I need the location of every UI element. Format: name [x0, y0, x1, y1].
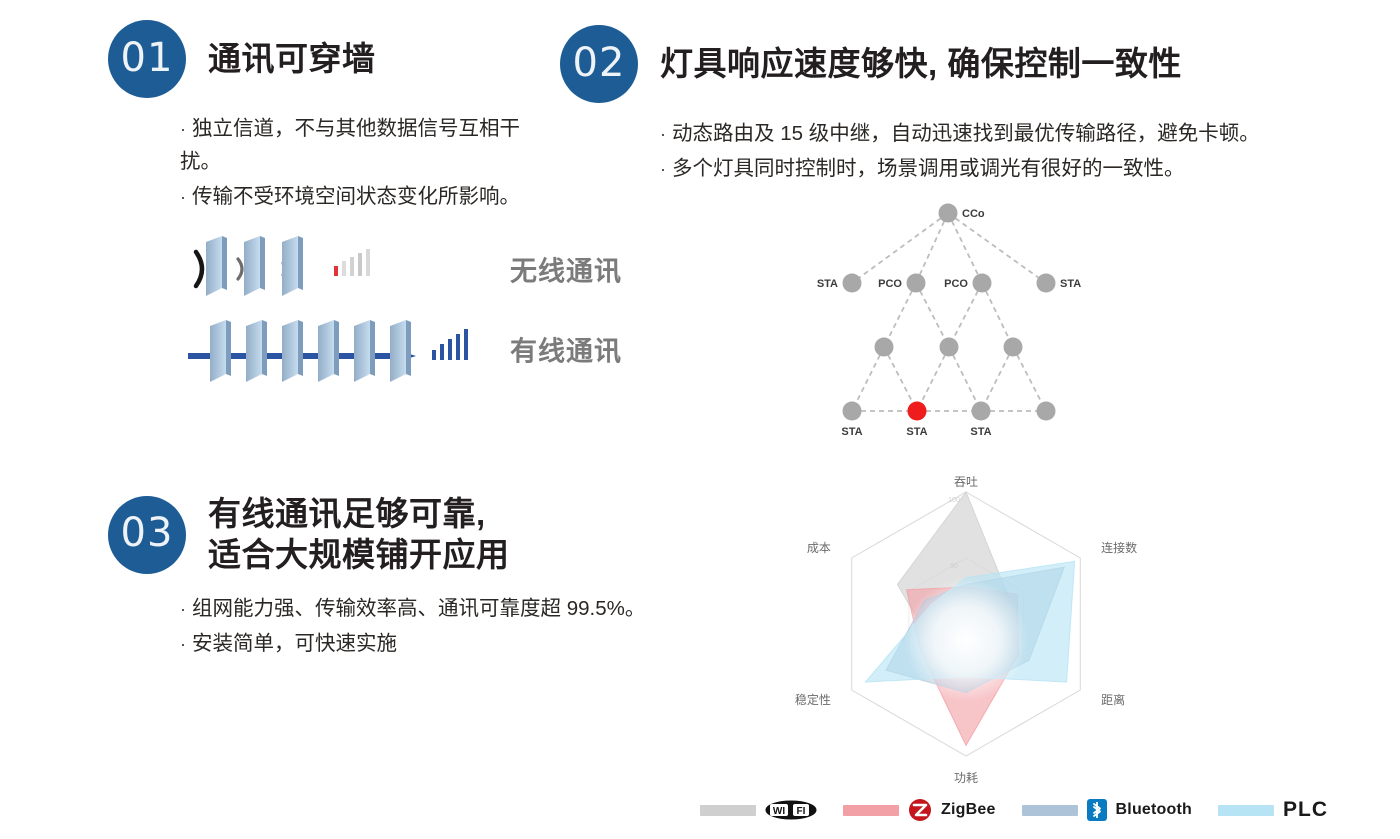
bullet-text: 传输不受环境空间状态变化所影响。	[192, 185, 520, 208]
list-item: ·独立信道，不与其他数据信号互相干扰。	[180, 112, 535, 178]
mesh-node-mid-1	[875, 338, 894, 357]
mesh-node-label: STA	[817, 278, 838, 290]
mesh-link	[884, 283, 916, 347]
bullet-text: 独立信道，不与其他数据信号互相干扰。	[180, 117, 520, 173]
mesh-node-pco-1	[907, 274, 926, 293]
mesh-network-diagram: CCoSTAPCOPCOSTASTASTASTA	[810, 195, 1320, 450]
zigbee-logo-icon	[908, 798, 932, 822]
mesh-node-label: STA	[1060, 278, 1081, 290]
section-01-header: 01 通讯可穿墙	[108, 20, 578, 98]
bullet-text: 安装简单，可快速实施	[192, 632, 397, 655]
radar-chart-legend: WI FI ZigBee Bluetooth PLC	[700, 798, 1328, 822]
radar-center-glow	[904, 578, 1028, 702]
wired-signal-walls-graphic	[186, 316, 516, 390]
legend-item-zigbee: ZigBee	[843, 798, 996, 822]
mesh-link	[917, 347, 949, 411]
section-03-number-badge: 03	[108, 496, 186, 574]
mesh-node-cco	[939, 204, 958, 223]
radar-axis-label: 连接数	[1101, 540, 1137, 555]
section-01-bullet-list: ·独立信道，不与其他数据信号互相干扰。 ·传输不受环境空间状态变化所影响。	[180, 112, 535, 214]
section-03-header: 03 有线通讯足够可靠, 适合大规模铺开应用	[108, 494, 788, 576]
mesh-link	[852, 213, 948, 283]
mesh-link	[981, 347, 1013, 411]
bullet-dot-icon: ·	[180, 187, 186, 207]
bullet-dot-icon: ·	[660, 159, 666, 179]
legend-swatch-wifi	[700, 805, 756, 816]
legend-label-bluetooth: Bluetooth	[1116, 801, 1192, 819]
list-item: ·动态路由及 15 级中继，自动迅速找到最优传输路径，避免卡顿。	[660, 117, 1300, 150]
mesh-node-bot-3	[972, 402, 991, 421]
section-01-title: 通讯可穿墙	[208, 39, 376, 80]
mesh-link	[982, 283, 1013, 347]
mesh-node-label: STA	[970, 426, 991, 438]
bullet-dot-icon: ·	[180, 634, 186, 654]
mesh-node-bot-2	[908, 402, 927, 421]
mesh-node-label: STA	[841, 426, 862, 438]
svg-text:FI: FI	[797, 806, 806, 817]
section-02-header: 02 灯具响应速度够快, 确保控制一致性	[560, 25, 1320, 103]
mesh-node-mid-3	[1004, 338, 1023, 357]
wireless-row: 无线通讯	[186, 236, 616, 302]
section-03-title: 有线通讯足够可靠, 适合大规模铺开应用	[208, 494, 510, 576]
wireless-signal-walls-graphic	[186, 236, 516, 302]
bullet-dot-icon: ·	[180, 119, 186, 139]
mesh-node-pco-2	[973, 274, 992, 293]
legend-item-plc: PLC	[1218, 798, 1328, 822]
mesh-node-label: CCo	[962, 208, 985, 220]
mesh-link	[916, 283, 949, 347]
feature-section-02: 02 灯具响应速度够快, 确保控制一致性 ·动态路由及 15 级中继，自动迅速找…	[560, 25, 1320, 450]
radar-tick-label: 50	[950, 563, 958, 570]
mesh-node-label: PCO	[944, 278, 968, 290]
bullet-dot-icon: ·	[660, 124, 666, 144]
radar-tick-label: 100	[948, 497, 960, 504]
legend-item-bluetooth: Bluetooth	[1022, 799, 1192, 821]
legend-swatch-bluetooth	[1022, 805, 1078, 816]
mesh-node-mid-2	[940, 338, 959, 357]
bluetooth-logo-icon	[1087, 799, 1107, 821]
radar-axis-label: 功耗	[954, 771, 978, 785]
section-03-bullet-list: ·组网能力强、传输效率高、通讯可靠度超 99.5%。 ·安装简单，可快速实施	[180, 592, 780, 660]
wall-penetration-illustration: 无线通讯	[186, 236, 616, 386]
wired-row: 有线通讯	[186, 316, 616, 382]
list-item: ·安装简单，可快速实施	[180, 627, 780, 660]
feature-section-01: 01 通讯可穿墙 ·独立信道，不与其他数据信号互相干扰。 ·传输不受环境空间状态…	[108, 20, 578, 386]
bullet-text: 组网能力强、传输效率高、通讯可靠度超 99.5%。	[192, 597, 645, 620]
mesh-link	[949, 347, 981, 411]
radar-axis-label: 吞吐	[954, 475, 978, 489]
section-01-number-badge: 01	[108, 20, 186, 98]
legend-item-wifi: WI FI	[700, 798, 817, 822]
legend-swatch-plc	[1218, 805, 1274, 816]
technology-comparison-radar-chart: 10050吞吐连接数距离功耗稳定性成本	[788, 466, 1148, 801]
mesh-node-sta-l	[843, 274, 862, 293]
mesh-node-sta-r	[1037, 274, 1056, 293]
radar-axis-label: 稳定性	[795, 692, 831, 707]
list-item: ·多个灯具同时控制时，场景调用或调光有很好的一致性。	[660, 152, 1300, 185]
mesh-link	[916, 213, 948, 283]
legend-label-plc: PLC	[1283, 798, 1328, 822]
radar-axis-label: 成本	[807, 541, 831, 555]
bullet-text: 多个灯具同时控制时，场景调用或调光有很好的一致性。	[672, 157, 1185, 180]
section-02-bullet-list: ·动态路由及 15 级中继，自动迅速找到最优传输路径，避免卡顿。 ·多个灯具同时…	[660, 117, 1300, 185]
list-item: ·组网能力强、传输效率高、通讯可靠度超 99.5%。	[180, 592, 780, 625]
section-02-title: 灯具响应速度够快, 确保控制一致性	[660, 44, 1182, 85]
radar-chart-graphic: 10050吞吐连接数距离功耗稳定性成本	[788, 466, 1148, 796]
legend-swatch-zigbee	[843, 805, 899, 816]
mesh-node-bot-1	[843, 402, 862, 421]
legend-label-zigbee: ZigBee	[941, 801, 996, 819]
section-02-number-badge: 02	[560, 25, 638, 103]
mesh-link	[949, 283, 982, 347]
feature-section-03: 03 有线通讯足够可靠, 适合大规模铺开应用 ·组网能力强、传输效率高、通讯可靠…	[108, 494, 788, 662]
mesh-link	[1013, 347, 1046, 411]
mesh-node-label: PCO	[878, 278, 902, 290]
mesh-link	[884, 347, 917, 411]
radar-axis-label: 距离	[1101, 692, 1125, 707]
list-item: ·传输不受环境空间状态变化所影响。	[180, 180, 535, 213]
mesh-link	[948, 213, 982, 283]
mesh-node-label: STA	[906, 426, 927, 438]
svg-text:WI: WI	[773, 806, 785, 817]
mesh-topology-graphic: CCoSTAPCOPCOSTASTASTASTA	[810, 195, 1110, 445]
bullet-text: 动态路由及 15 级中继，自动迅速找到最优传输路径，避免卡顿。	[672, 122, 1260, 145]
mesh-link	[948, 213, 1046, 283]
mesh-link	[852, 347, 884, 411]
bullet-dot-icon: ·	[180, 599, 186, 619]
wifi-logo-icon: WI FI	[765, 798, 817, 822]
mesh-node-bot-4	[1037, 402, 1056, 421]
